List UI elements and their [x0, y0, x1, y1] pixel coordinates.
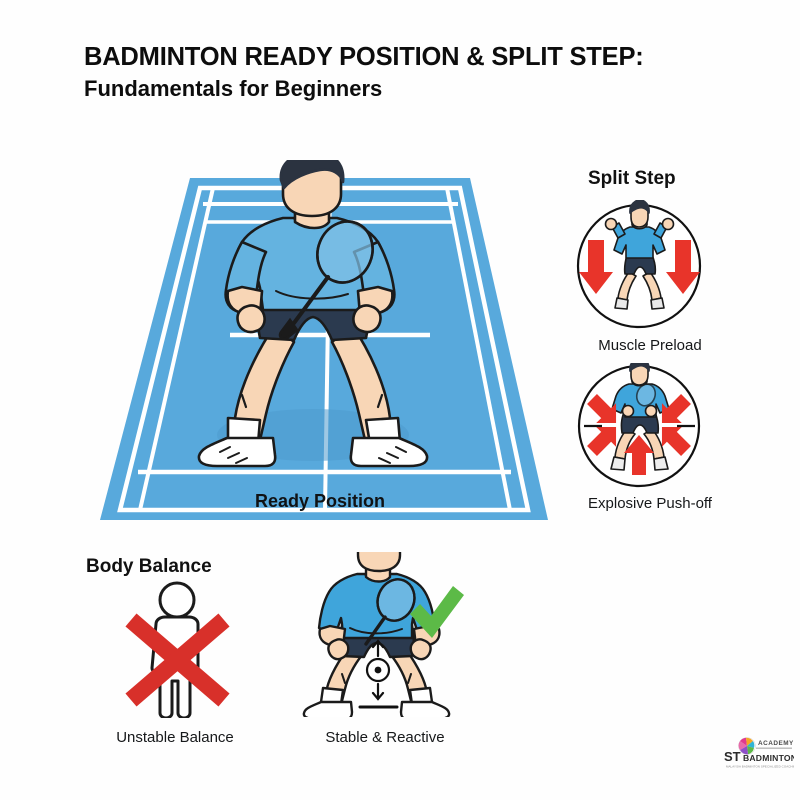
- split-step-heading: Split Step: [588, 168, 676, 190]
- logo-academy-text: ACADEMY: [758, 740, 794, 747]
- logo-badminton-text: BADMINTON: [743, 753, 794, 763]
- player-figure-stable: [304, 552, 449, 717]
- caption-stable-reactive: Stable & Reactive: [295, 729, 475, 746]
- logo-tagline-text: MALAYSIA BADMINTON SPECIALIZED COACHING …: [726, 765, 794, 769]
- caption-unstable-balance: Unstable Balance: [85, 729, 265, 746]
- stable-reactive-illustration: [292, 552, 467, 722]
- logo-st-text: ST: [724, 749, 741, 764]
- page-title: BADMINTON READY POSITION & SPLIT STEP: F…: [84, 43, 744, 102]
- shuttlecock-logo-icon: [739, 738, 756, 755]
- ready-position-label: Ready Position: [195, 491, 445, 512]
- title-line-primary: BADMINTON READY POSITION & SPLIT STEP:: [84, 43, 744, 72]
- split-step-muscle-preload-icon: [572, 200, 707, 337]
- body-balance-heading: Body Balance: [86, 556, 212, 578]
- infographic-poster: BADMINTON READY POSITION & SPLIT STEP: F…: [0, 0, 800, 800]
- caption-muscle-preload: Muscle Preload: [560, 337, 740, 354]
- unstable-balance-illustration: [112, 578, 242, 723]
- caption-explosive-pushoff: Explosive Push-off: [555, 495, 745, 512]
- brand-logo: ACADEMY ST BADMINTON MALAYSIA BADMINTON …: [722, 735, 794, 776]
- ready-position-court-illustration: [70, 160, 550, 545]
- split-step-explosive-pushoff-icon: [572, 363, 707, 500]
- title-line-secondary: Fundamentals for Beginners: [84, 76, 744, 102]
